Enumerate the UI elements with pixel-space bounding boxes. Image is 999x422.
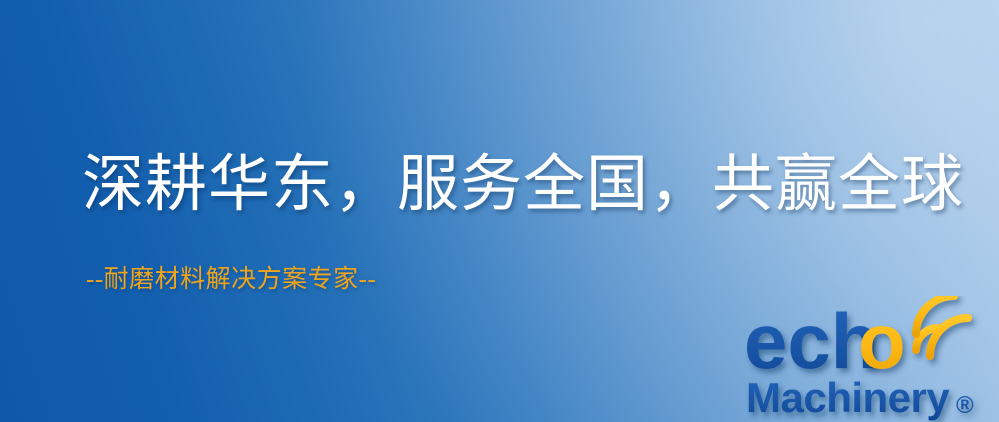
logo-artwork: ech o Machinery ® [744,296,999,422]
banner-subtitle: --耐磨材料解决方案专家-- [86,264,376,296]
echo-machinery-logo: ech o Machinery ® [744,296,999,422]
logo-wordmark-o: o [858,297,906,385]
promotional-banner: 深耕华东，服务全国，共赢全球 --耐磨材料解决方案专家-- [0,0,999,422]
logo-tagline: Machinery [746,374,950,421]
registered-trademark-icon: ® [956,392,974,419]
signal-arcs-icon [916,296,968,356]
banner-headline: 深耕华东，服务全国，共赢全球 [82,148,964,222]
